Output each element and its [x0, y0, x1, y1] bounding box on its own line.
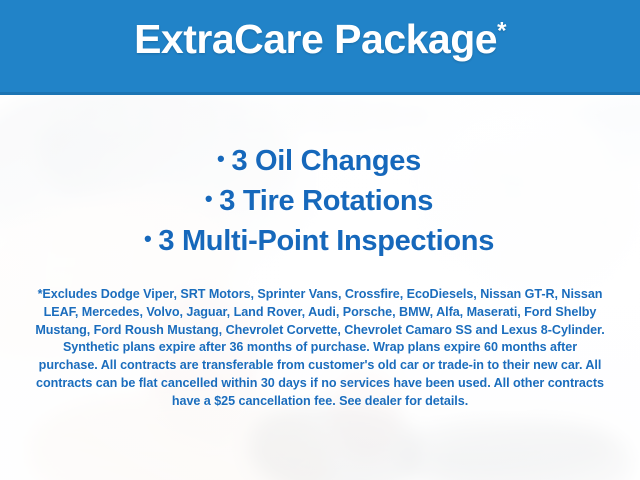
- header-banner: ExtraCare Package*: [0, 0, 640, 95]
- list-item: •3 Oil Changes: [0, 140, 640, 180]
- disclaimer-text: *Excludes Dodge Viper, SRT Motors, Sprin…: [32, 286, 608, 411]
- page-title: ExtraCare Package*: [0, 17, 640, 62]
- benefit-label: 3 Tire Rotations: [219, 185, 433, 217]
- benefit-label: 3 Multi-Point Inspections: [158, 225, 494, 257]
- bullet-dot-icon: •: [217, 146, 224, 171]
- benefits-list: •3 Oil Changes •3 Tire Rotations •3 Mult…: [0, 140, 640, 260]
- disclaimer-paragraph: *Excludes Dodge Viper, SRT Motors, Sprin…: [32, 286, 608, 411]
- page-title-asterisk: *: [497, 17, 506, 44]
- benefit-label: 3 Oil Changes: [231, 145, 421, 177]
- bullet-dot-icon: •: [205, 186, 212, 211]
- bullet-dot-icon: •: [144, 226, 151, 251]
- page-title-text: ExtraCare Package: [134, 16, 497, 62]
- list-item: •3 Tire Rotations: [0, 180, 640, 220]
- extracare-package-ad: ExtraCare Package* •3 Oil Changes •3 Tir…: [0, 0, 640, 480]
- list-item: •3 Multi-Point Inspections: [0, 220, 640, 260]
